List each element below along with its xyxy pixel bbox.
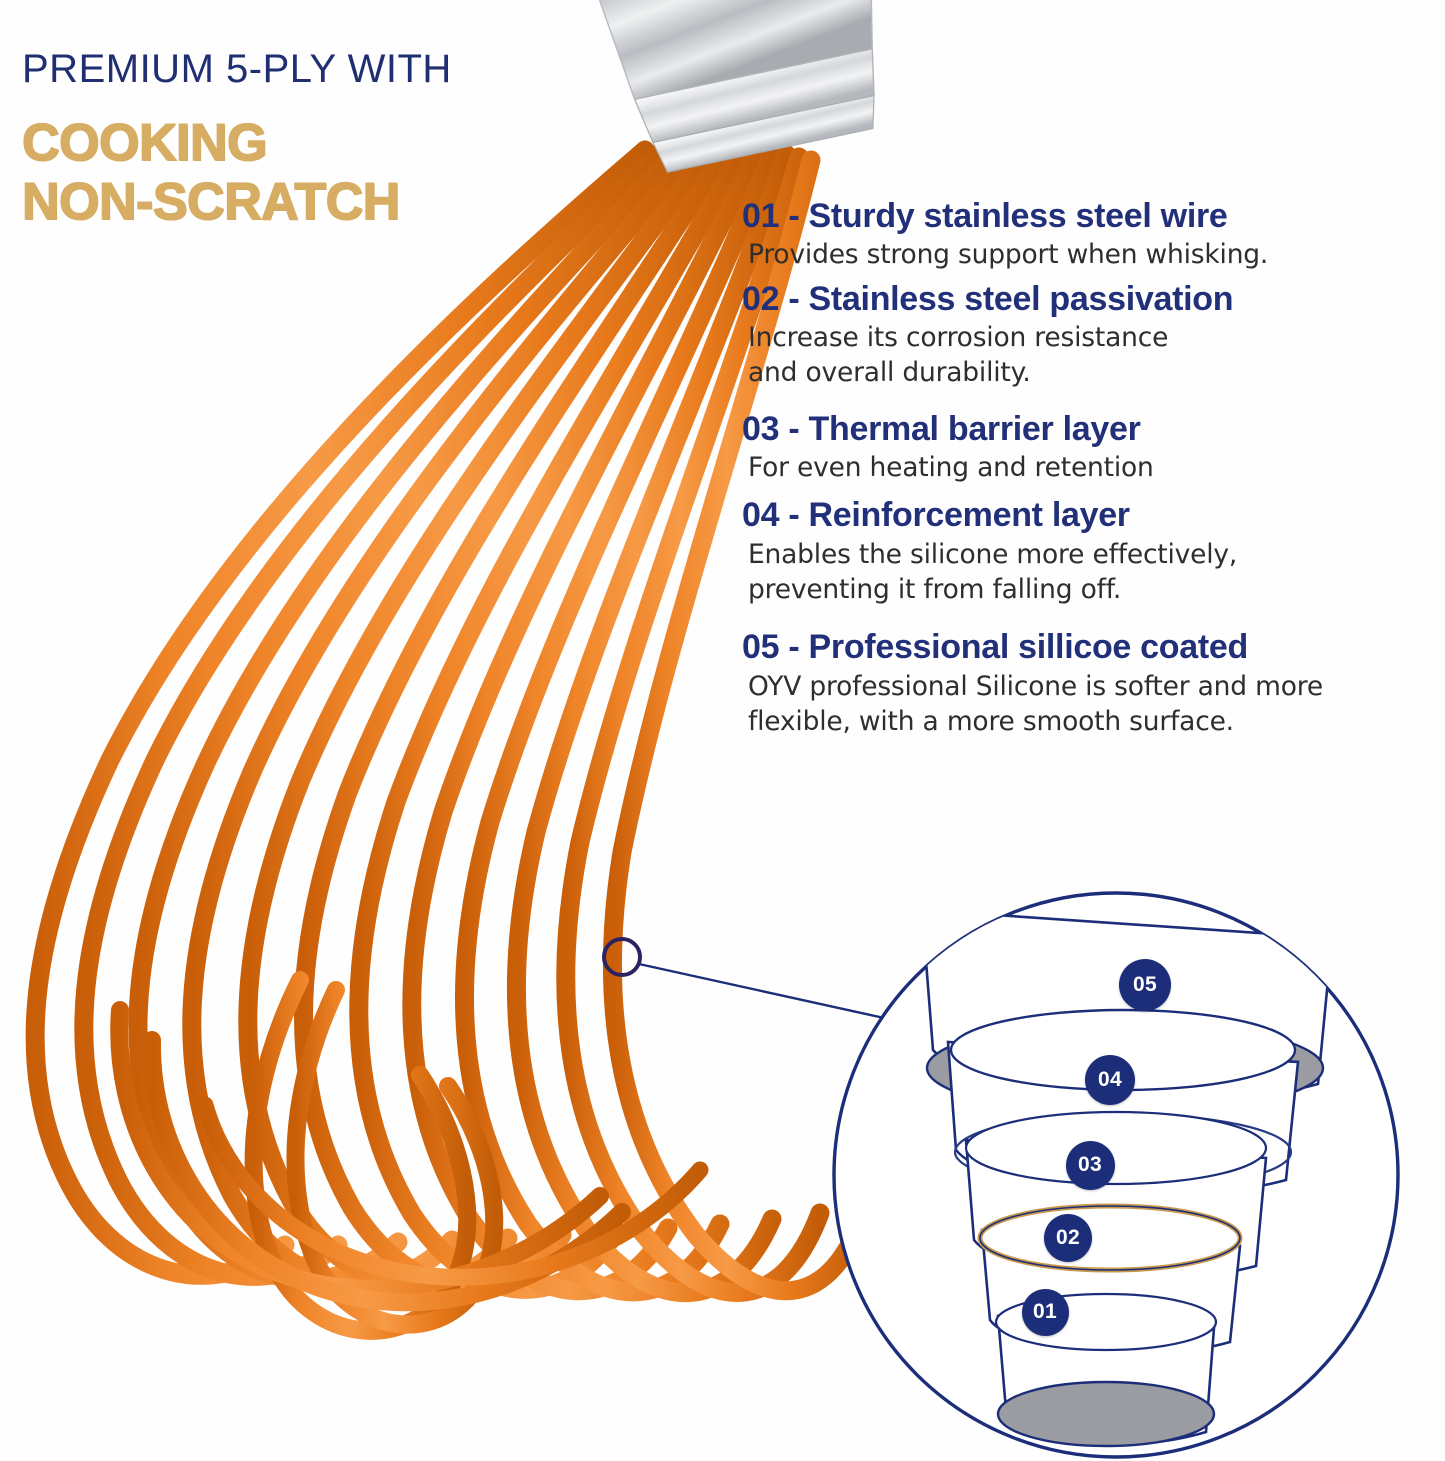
feature-desc-02-line-1: Increase its corrosion resistance — [748, 320, 1442, 355]
feature-list: 01 - Sturdy stainless steel wire Provide… — [742, 196, 1442, 741]
feature-item-03: 03 - Thermal barrier layer For even heat… — [742, 409, 1442, 486]
layer-badge-03[interactable]: 03 — [1066, 1141, 1115, 1190]
feature-desc-04-line-2: preventing it from falling off. — [748, 572, 1442, 607]
feature-desc-03: For even heating and retention — [742, 450, 1442, 485]
feature-desc-04: Enables the silicone more effectively, p… — [742, 537, 1442, 607]
feature-desc-05-line-2: flexible, with a more smooth surface. — [748, 704, 1442, 739]
feature-title-03: 03 - Thermal barrier layer — [742, 409, 1442, 450]
layer-badge-05[interactable]: 05 — [1119, 959, 1171, 1011]
steel-core-end-face — [998, 1382, 1214, 1446]
headline-gold-block: COOKING NON-SCRATCH — [22, 114, 642, 233]
headline-line-1: PREMIUM 5-PLY WITH — [22, 48, 642, 90]
feature-desc-03-line-1: For even heating and retention — [748, 450, 1442, 485]
feature-title-01: 01 - Sturdy stainless steel wire — [742, 196, 1442, 237]
headline-block: PREMIUM 5-PLY WITH COOKING NON-SCRATCH — [22, 48, 642, 233]
layer-badge-01[interactable]: 01 — [1022, 1289, 1069, 1336]
wire-marker-ring — [604, 939, 640, 975]
infographic-canvas: PREMIUM 5-PLY WITH COOKING NON-SCRATCH 0… — [0, 0, 1445, 1461]
feature-desc-02: Increase its corrosion resistance and ov… — [742, 320, 1442, 390]
feature-desc-02-line-2: and overall durability. — [748, 355, 1442, 390]
headline-line-3: NON-SCRATCH — [22, 173, 642, 232]
feature-item-05: 05 - Professional sillicoe coated OYV pr… — [742, 627, 1442, 739]
feature-desc-04-line-1: Enables the silicone more effectively, — [748, 537, 1442, 572]
feature-title-05: 05 - Professional sillicoe coated — [742, 627, 1442, 668]
feature-desc-01: Provides strong support when whisking. — [742, 237, 1442, 272]
feature-title-02: 02 - Stainless steel passivation — [742, 279, 1442, 320]
feature-item-02: 02 - Stainless steel passivation Increas… — [742, 279, 1442, 391]
feature-item-04: 04 - Reinforcement layer Enables the sil… — [742, 495, 1442, 607]
feature-desc-05: OYV professional Silicone is softer and … — [742, 669, 1442, 739]
layer-badge-02[interactable]: 02 — [1044, 1214, 1092, 1262]
feature-title-04: 04 - Reinforcement layer — [742, 495, 1442, 536]
layer-badge-04[interactable]: 04 — [1085, 1055, 1135, 1105]
feature-desc-05-line-1: OYV professional Silicone is softer and … — [748, 669, 1442, 704]
headline-line-2: COOKING — [22, 114, 642, 173]
feature-item-01: 01 - Sturdy stainless steel wire Provide… — [742, 196, 1442, 273]
feature-desc-01-line-1: Provides strong support when whisking. — [748, 237, 1442, 272]
